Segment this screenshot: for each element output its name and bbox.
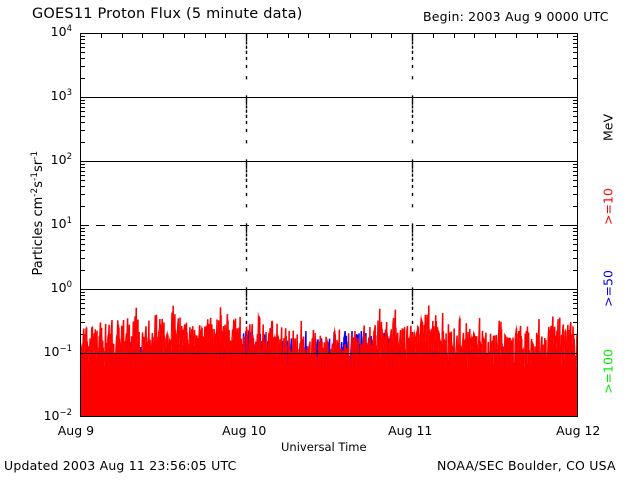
y-tick-label: 100 [26,280,72,295]
flux-plot-canvas [80,33,578,417]
chart-page: GOES11 Proton Flux (5 minute data) Begin… [0,0,640,480]
y-tick-label: 10−2 [26,408,72,423]
updated-timestamp: Updated 2003 Aug 11 23:56:05 UTC [4,458,237,473]
y-tick-label: 104 [26,24,72,39]
y-tick-label: 102 [26,152,72,167]
begin-time-label: Begin: 2003 Aug 9 0000 UTC [423,9,609,24]
legend-ge100: >=100 [601,332,616,412]
credit-label: NOAA/SEC Boulder, CO USA [437,458,616,473]
legend-ge50: >=50 [601,249,616,329]
legend-ge10: >=10 [601,167,616,247]
y-tick-label: 101 [26,216,72,231]
legend-unit: MeV [601,88,616,168]
x-tick-label: Aug 12 [556,423,600,438]
chart-title: GOES11 Proton Flux (5 minute data) [32,6,303,22]
y-tick-label: 10−1 [26,344,72,359]
x-tick-label: Aug 10 [222,423,266,438]
y-tick-label: 103 [26,88,72,103]
x-tick-label: Aug 9 [58,423,94,438]
x-axis-label: Universal Time [281,440,367,454]
x-tick-label: Aug 11 [388,423,432,438]
